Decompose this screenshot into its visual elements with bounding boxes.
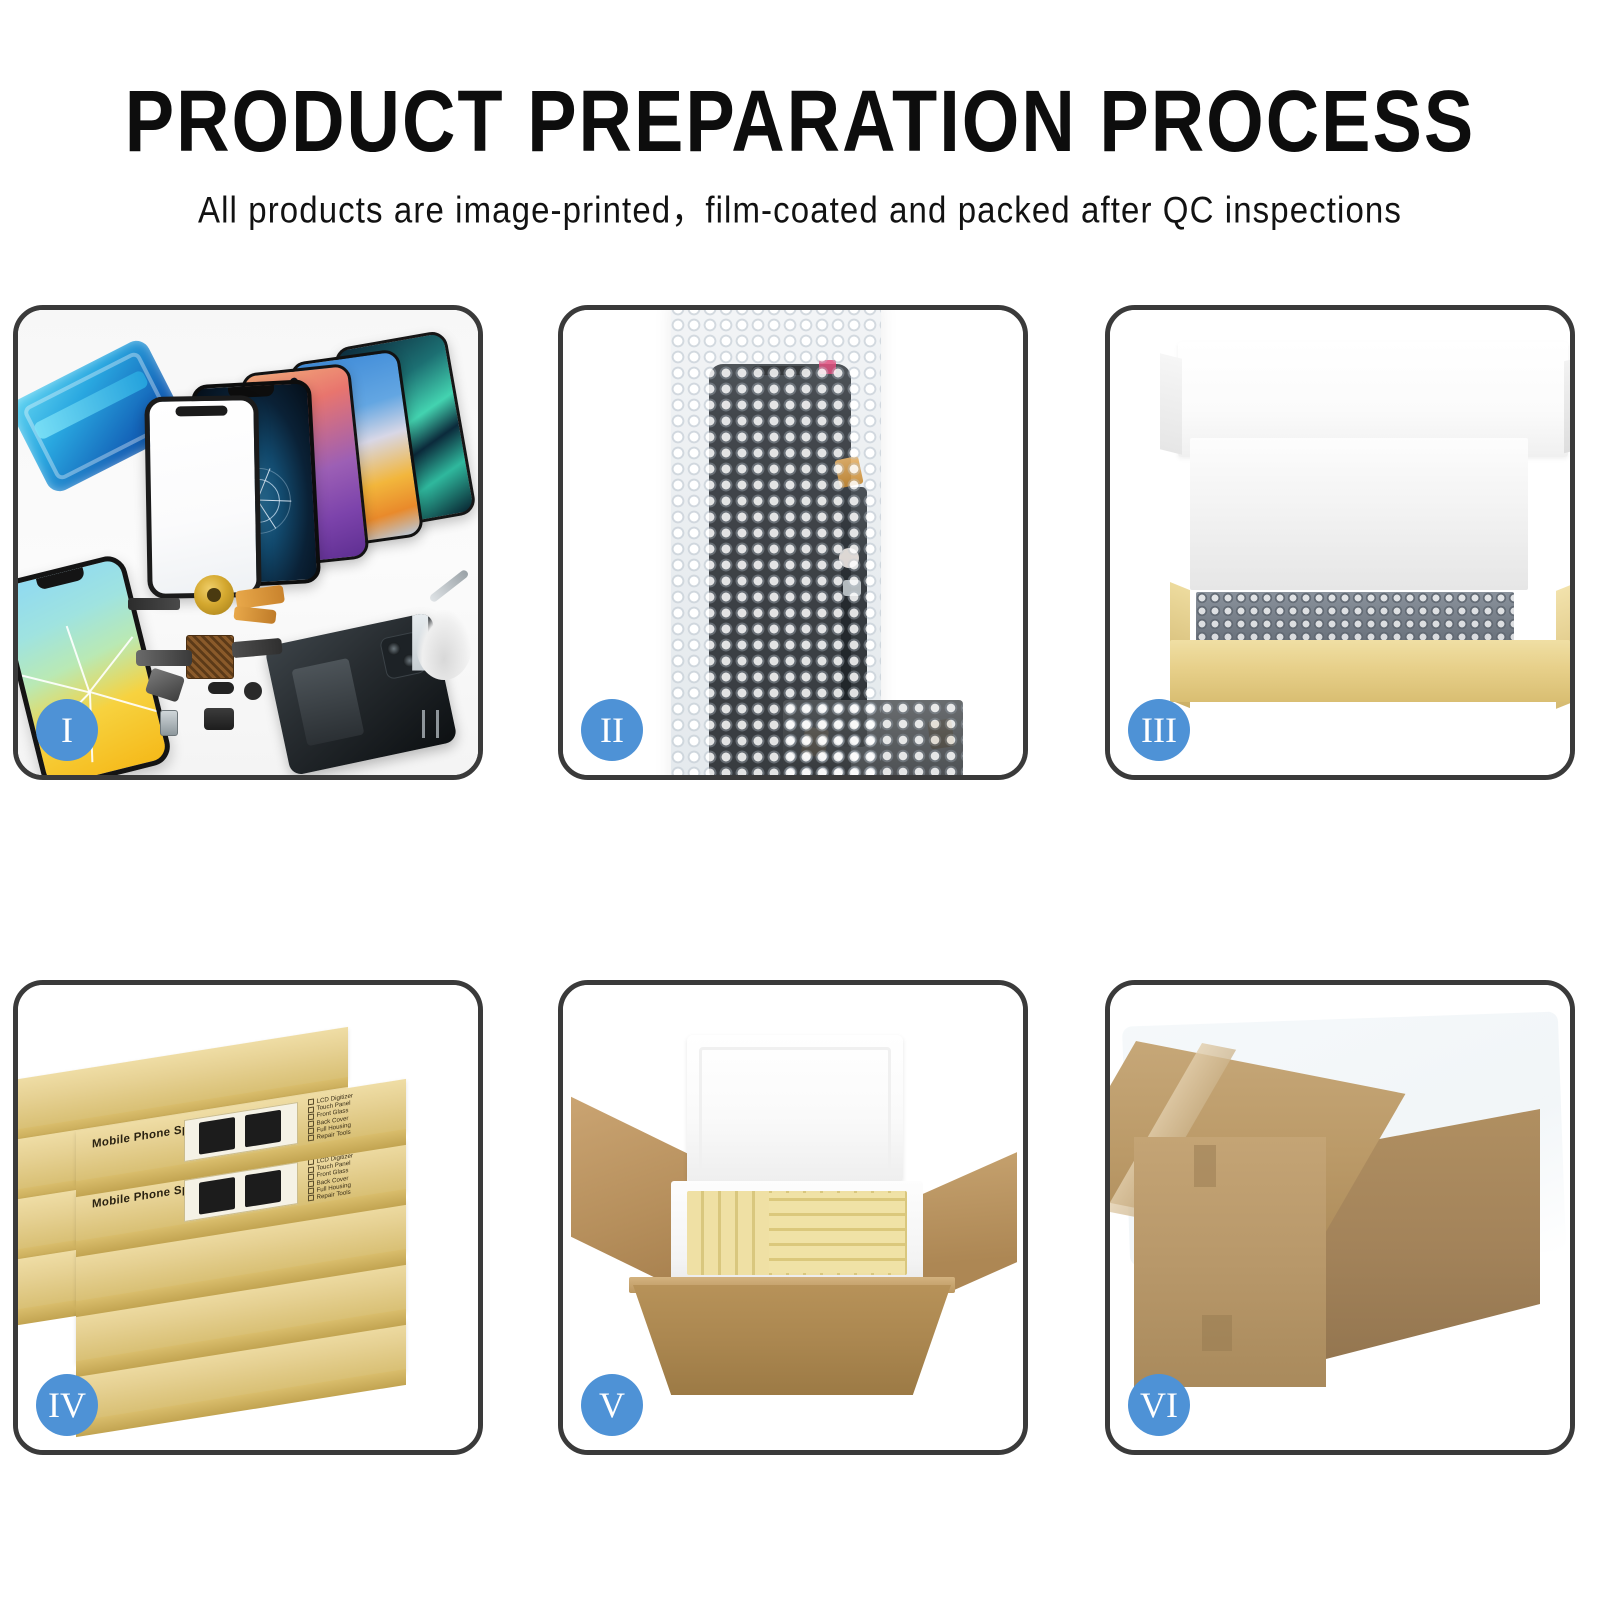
phone-thumbnail-icon	[199, 1117, 235, 1155]
phone-thumbnail-icon	[199, 1177, 235, 1215]
screws-part	[418, 710, 458, 738]
carton-seam-flap	[1194, 1145, 1216, 1187]
step-badge-5: V	[581, 1374, 643, 1436]
bubble-wrap-sleeve	[671, 310, 881, 775]
vibration-motor-part	[208, 682, 234, 694]
step-badge-3: III	[1128, 699, 1190, 761]
battery-part	[291, 658, 364, 746]
step-image-bubble-wrapped-screen	[563, 310, 1023, 775]
step-panel-spare-parts-assortment[interactable]: I	[13, 305, 483, 780]
step-badge-4: IV	[36, 1374, 98, 1436]
step-panel-kraft-box-with-foam[interactable]: III	[1105, 305, 1575, 780]
home-button-part	[244, 682, 262, 700]
flex-cable-part	[136, 650, 192, 666]
carton-body	[633, 1285, 951, 1395]
white-connector-part	[839, 548, 859, 568]
cleaning-brush-tool	[416, 610, 472, 680]
step-badge-6: VI	[1128, 1374, 1190, 1436]
step-image-foam-cooler-in-carton	[563, 985, 1023, 1450]
earpiece-icon	[752, 366, 808, 375]
foam-cooler-lid	[687, 1035, 903, 1183]
shatter-line	[89, 691, 157, 712]
phone-thumbnail-icon	[245, 1110, 281, 1148]
earpiece-icon	[175, 406, 227, 417]
step-image-stacked-retail-boxes: Mobile Phone Spare Parts LCD Digitizer T…	[18, 985, 478, 1450]
wireless-charging-coil-part	[194, 575, 234, 615]
step-image-spare-parts	[18, 310, 478, 775]
shatter-line	[89, 637, 133, 693]
gold-contact-tab	[834, 456, 863, 488]
carton-flap-left	[571, 1097, 687, 1294]
pink-label-sticker	[819, 360, 836, 374]
step-image-kraft-box-with-foam	[1110, 310, 1570, 775]
shatter-line	[22, 675, 90, 693]
phone-thumbnail-icon	[245, 1170, 281, 1208]
carton-seam-flap	[1202, 1315, 1232, 1351]
front-glass-panel	[144, 395, 262, 599]
kraft-box-front-wall	[1170, 640, 1570, 702]
step-image-sealed-shipping-carton	[1110, 985, 1570, 1450]
retail-box-stack: Mobile Phone Spare Parts LCD Digitizer T…	[18, 985, 478, 1450]
process-step-grid: I II	[0, 0, 1600, 1600]
step-panel-stacked-retail-boxes[interactable]: Mobile Phone Spare Parts LCD Digitizer T…	[13, 980, 483, 1455]
sim-tray-part	[160, 710, 178, 736]
step-badge-1: I	[36, 699, 98, 761]
notch-icon	[36, 567, 85, 590]
grey-connector-part	[843, 580, 861, 596]
connector-cluster	[783, 700, 963, 775]
step-panel-bubble-wrapped-screen[interactable]: II	[558, 305, 1028, 780]
gold-boxes-inside	[769, 1193, 905, 1273]
shatter-line	[66, 626, 90, 693]
speaker-part	[128, 598, 180, 610]
speaker-module-part	[204, 708, 234, 730]
step-badge-2: II	[581, 699, 643, 761]
ic-chip-part	[186, 635, 234, 679]
step-panel-foam-cooler-in-carton[interactable]: V	[558, 980, 1028, 1455]
white-foam-pad	[1190, 438, 1528, 590]
step-panel-sealed-shipping-carton[interactable]: VI	[1105, 980, 1575, 1455]
